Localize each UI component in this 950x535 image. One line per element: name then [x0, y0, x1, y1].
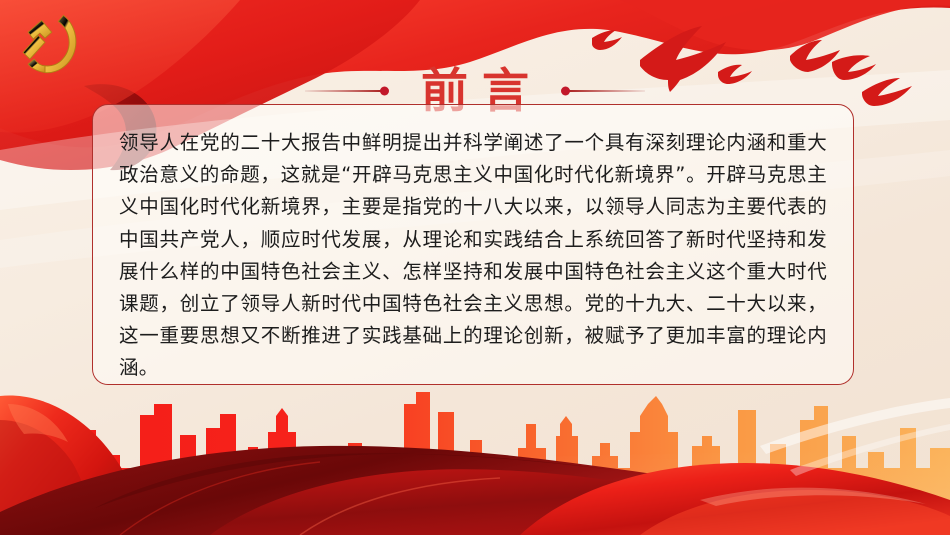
- slide-canvas: 前言 领导人在党的二十大报告中鲜明提出并科学阐述了一个具有深刻理论内涵和重大政治…: [0, 0, 950, 535]
- light-streaks: [0, 0, 950, 535]
